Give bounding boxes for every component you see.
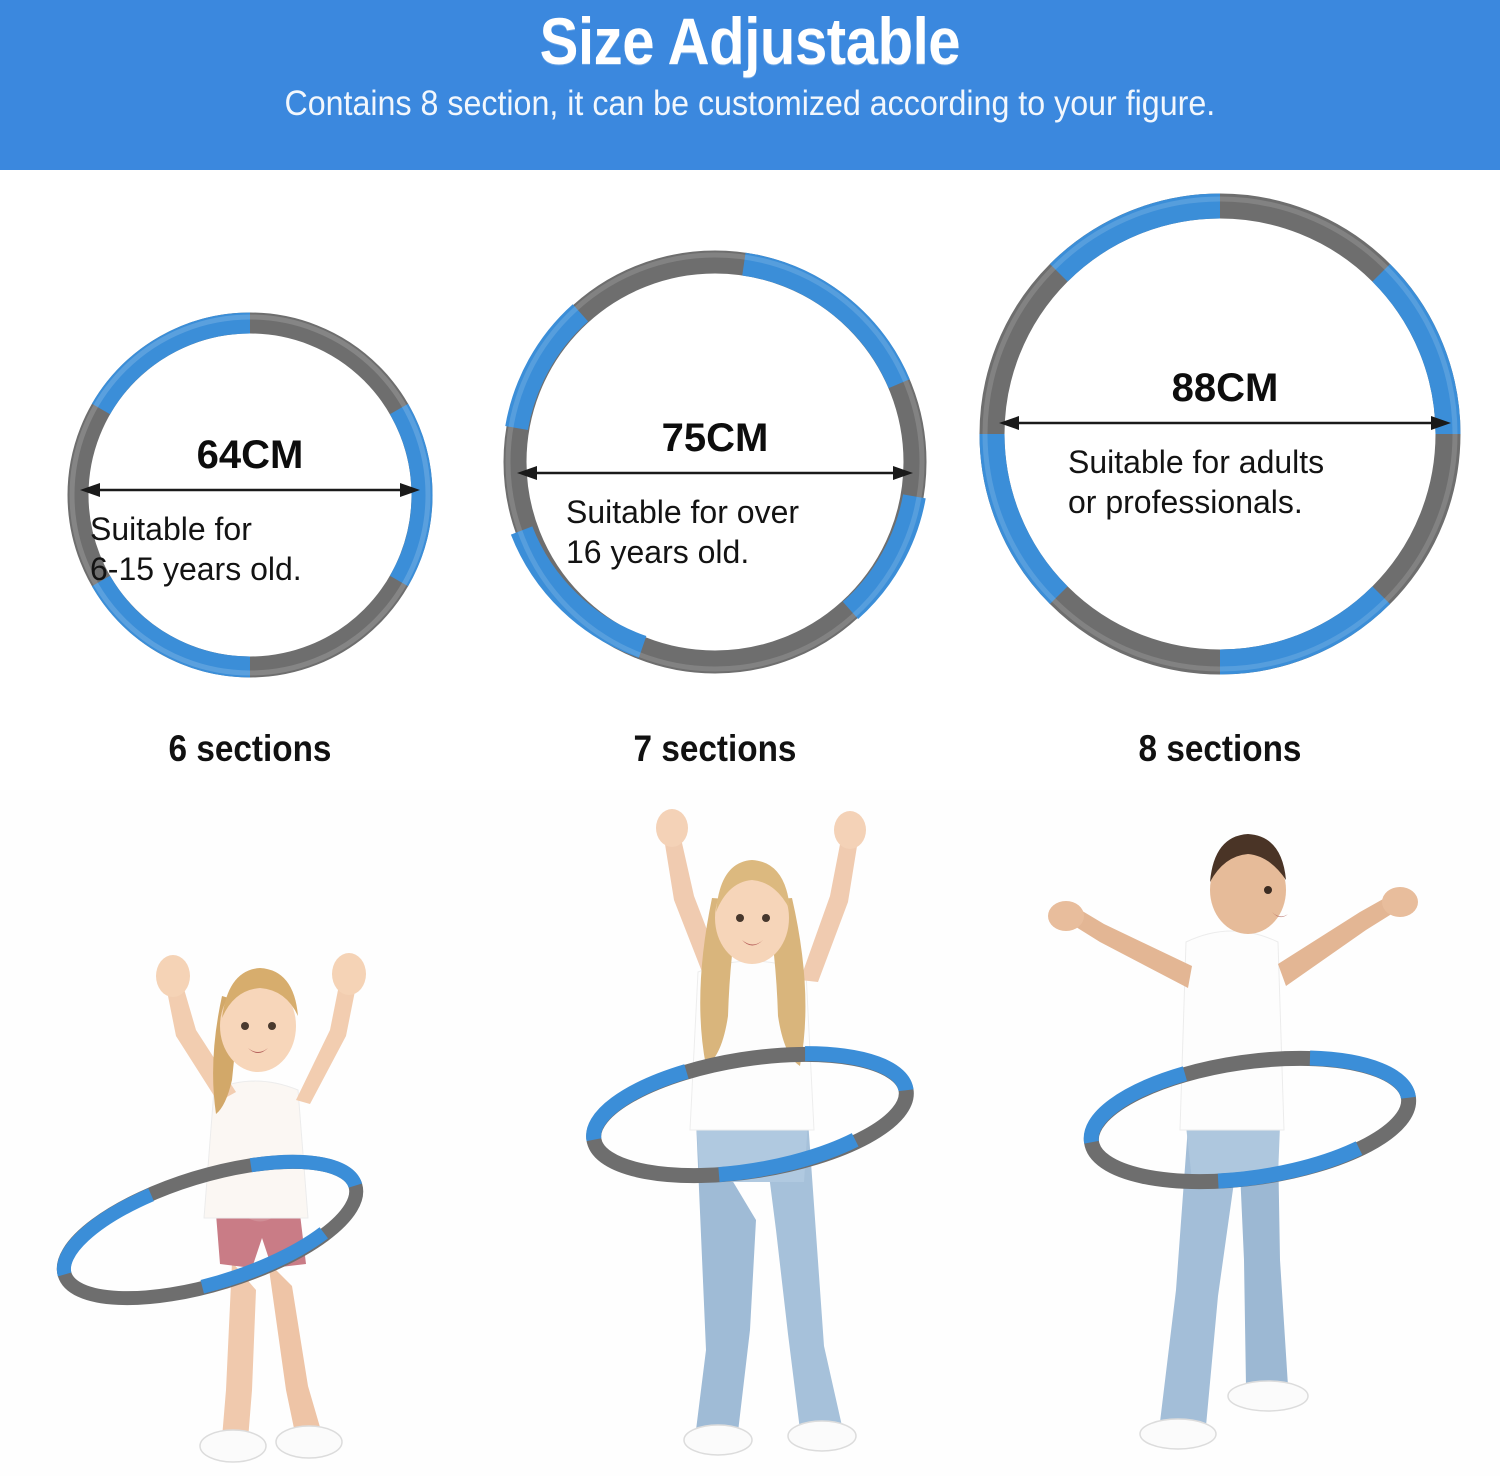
- photo-woman: [500, 790, 1000, 1476]
- photo-woman-illustration: [500, 790, 1000, 1476]
- dimension-caption-88cm: Suitable for adults or professionals.: [980, 442, 1470, 522]
- hoop-card-64cm: 64CM Suitable for 6-15 years old. 6 sect…: [0, 170, 500, 790]
- header-banner: Size Adjustable Contains 8 section, it c…: [0, 0, 1500, 170]
- lifestyle-photo-row: [0, 790, 1500, 1476]
- photo-man-illustration: [1000, 790, 1500, 1476]
- dimension-block-88cm: 88CM Suitable for adults or professional…: [980, 368, 1470, 522]
- dimension-arrow-64cm: [80, 481, 420, 499]
- dimension-caption-64cm: Suitable for 6-15 years old.: [60, 509, 440, 589]
- photo-child-illustration: [0, 790, 500, 1476]
- photo-man: [1000, 790, 1500, 1476]
- dimension-value-64cm: 64CM: [60, 435, 440, 475]
- page-title: Size Adjustable: [540, 8, 961, 74]
- hoop-card-75cm: 75CM Suitable for over 16 years old. 7 s…: [480, 170, 950, 790]
- dimension-value-88cm: 88CM: [980, 368, 1470, 408]
- dimension-arrow-75cm: [517, 464, 913, 482]
- dimension-caption-75cm: Suitable for over 16 years old.: [500, 492, 930, 572]
- sections-label-64cm: 6 sections: [25, 728, 475, 770]
- sections-label-75cm: 7 sections: [504, 728, 927, 770]
- dimension-value-75cm: 75CM: [500, 418, 930, 458]
- dimension-arrow-88cm: [999, 414, 1451, 432]
- hoop-comparison-row: 64CM Suitable for 6-15 years old. 6 sect…: [0, 170, 1500, 790]
- page-subtitle: Contains 8 section, it can be customized…: [285, 86, 1216, 121]
- dimension-block-64cm: 64CM Suitable for 6-15 years old.: [60, 435, 440, 589]
- photo-child: [0, 790, 500, 1476]
- dimension-block-75cm: 75CM Suitable for over 16 years old.: [500, 418, 930, 572]
- sections-label-88cm: 8 sections: [968, 728, 1472, 770]
- hoop-card-88cm: 88CM Suitable for adults or professional…: [940, 170, 1500, 790]
